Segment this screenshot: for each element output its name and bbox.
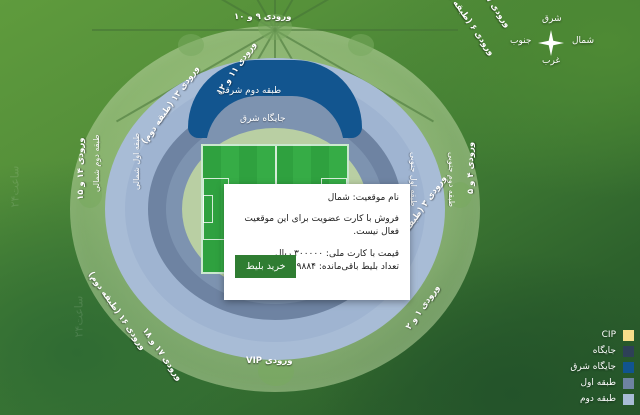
entrance-pad[interactable] <box>178 34 204 56</box>
legend-swatch-tribune <box>623 346 634 357</box>
legend-item[interactable]: طبقه دوم <box>514 391 634 407</box>
watermark: ساعت۲۴ <box>8 166 21 208</box>
legend-label: طبقه دوم <box>580 394 616 404</box>
legend-item[interactable]: طبقه اول <box>514 375 634 391</box>
entrance-pad[interactable] <box>348 34 374 56</box>
compass-star-icon <box>538 30 564 56</box>
legend-item[interactable]: جایگاه شرق <box>514 359 634 375</box>
compass-rose: شرق غرب شمال جنوب <box>506 12 602 74</box>
tier-label-second-north: طبقه دوم شمالی <box>92 135 101 192</box>
entrance-label-14-15[interactable]: ورودی ۱۴ و ۱۵ <box>76 137 86 200</box>
legend-label: CIP <box>602 330 616 340</box>
tier-label-first-south: طبقه اول جنوبی <box>409 152 418 207</box>
popup-title: نام موقعیت: شمال <box>235 193 399 203</box>
compass-label-south: جنوب <box>510 36 531 46</box>
buy-ticket-button[interactable]: خرید بلیط <box>235 255 296 278</box>
legend-swatch-first-floor <box>623 378 634 389</box>
entrance-label-vip[interactable]: ورودی VIP <box>246 356 293 366</box>
legend-swatch-second-floor <box>623 394 634 405</box>
entrance-label-9-10[interactable]: ورودی ۹ و ۱۰ <box>234 12 291 22</box>
compass-label-north: شمال <box>572 36 594 46</box>
legend-label: جایگاه <box>593 346 616 356</box>
compass-label-west: غرب <box>542 56 560 66</box>
legend-item[interactable]: جایگاه <box>514 343 634 359</box>
stadium-map-screen: ساعت۲۴ ساعت۲۴ <box>0 0 640 415</box>
compass-label-east: شرق <box>542 14 562 24</box>
tier-label-first-north: طبقه اول شمالی <box>132 133 141 190</box>
legend-label: طبقه اول <box>580 378 616 388</box>
legend-swatch-cip <box>623 330 634 341</box>
popup-description: فروش با کارت عضویت برای این موقعیت فعال … <box>235 213 399 239</box>
legend: CIP جایگاه جایگاه شرق طبقه اول طبقه دوم <box>514 327 634 407</box>
legend-swatch-east-tribune <box>623 362 634 373</box>
tier-label-east-tribune: جایگاه شرق <box>240 114 286 124</box>
pitch-goal-area-left <box>203 195 213 223</box>
legend-label: جایگاه شرق <box>570 362 616 372</box>
legend-item[interactable]: CIP <box>514 327 634 343</box>
entrance-label-4-5[interactable]: ورودی ۴ و ۵ <box>466 142 476 194</box>
location-info-popup[interactable]: نام موقعیت: شمال فروش با کارت عضویت برای… <box>224 184 410 300</box>
